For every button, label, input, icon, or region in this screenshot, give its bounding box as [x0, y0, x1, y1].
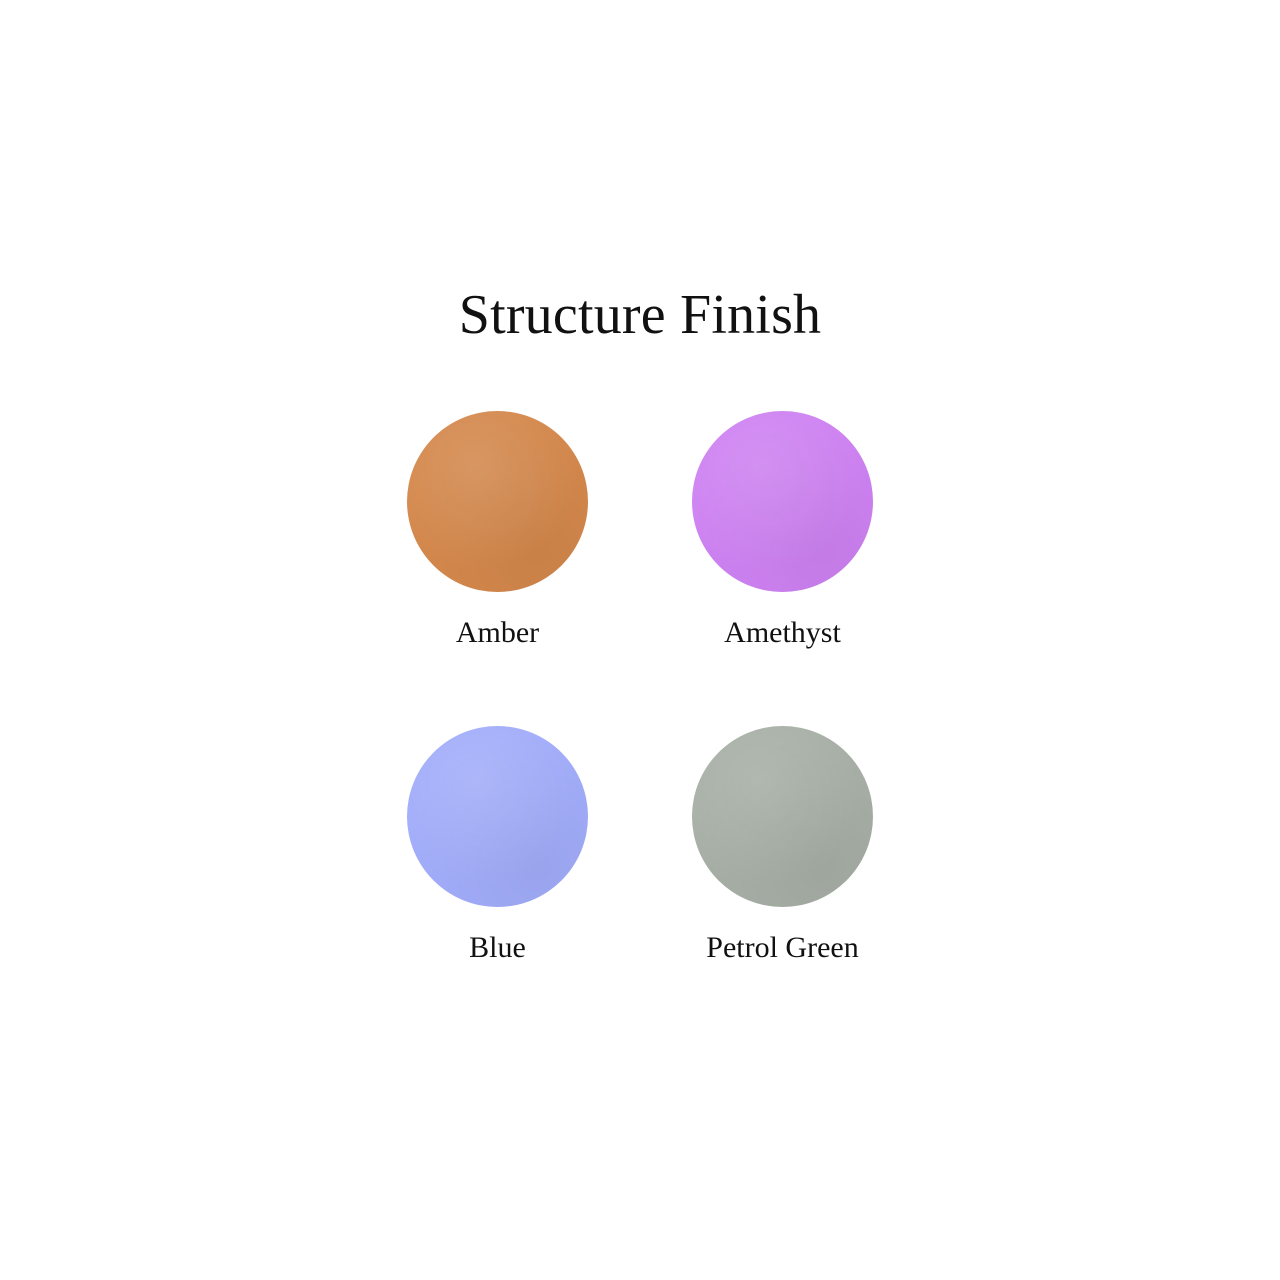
page-title: Structure Finish	[0, 284, 1280, 347]
swatch-disc-wrap-amber	[403, 407, 593, 595]
swatch-item-amethyst[interactable]: Amethyst	[688, 407, 878, 650]
swatch-label-amber: Amber	[456, 616, 539, 650]
swatch-disc-wrap-petrol-green	[688, 722, 878, 910]
swatch-disc-wrap-amethyst	[688, 407, 878, 595]
swatch-item-petrol-green[interactable]: Petrol Green	[688, 722, 878, 965]
swatch-label-petrol-green: Petrol Green	[706, 931, 858, 965]
swatch-item-blue[interactable]: Blue	[403, 722, 593, 965]
color-swatch-page: Structure Finish Amber Amethyst Blue Pet…	[0, 0, 1280, 1280]
swatch-label-blue: Blue	[469, 931, 526, 965]
color-circle-amethyst[interactable]	[692, 411, 873, 592]
color-circle-petrol-green[interactable]	[692, 726, 873, 907]
swatch-item-amber[interactable]: Amber	[403, 407, 593, 650]
swatch-label-amethyst: Amethyst	[724, 616, 841, 650]
swatch-grid: Amber Amethyst Blue Petrol Green	[390, 407, 890, 965]
swatch-disc-wrap-blue	[403, 722, 593, 910]
color-circle-amber[interactable]	[407, 411, 588, 592]
color-circle-blue[interactable]	[407, 726, 588, 907]
